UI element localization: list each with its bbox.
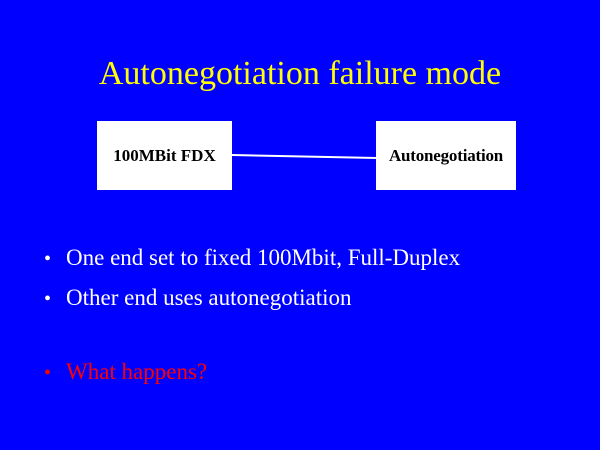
diagram-node-label: 100MBit FDX bbox=[113, 146, 215, 165]
bullet-dot-icon: • bbox=[44, 353, 66, 393]
list-item-label: Other end uses autonegotiation bbox=[66, 278, 352, 318]
list-item: • Other end uses autonegotiation bbox=[44, 278, 584, 318]
diagram-node-autonegotiation: Autonegotiation bbox=[376, 121, 516, 190]
bullet-dot-icon: • bbox=[44, 279, 66, 319]
list-item: • What happens? bbox=[44, 352, 584, 392]
slide-canvas: Autonegotiation failure mode 100MBit FDX… bbox=[0, 0, 600, 450]
bullet-list: • One end set to fixed 100Mbit, Full-Dup… bbox=[44, 238, 584, 392]
list-item-label: What happens? bbox=[66, 352, 207, 392]
bullet-dot-icon: • bbox=[44, 239, 66, 279]
diagram-node-label: Autonegotiation bbox=[389, 146, 503, 165]
list-item-label: One end set to fixed 100Mbit, Full-Duple… bbox=[66, 238, 460, 278]
list-item: • One end set to fixed 100Mbit, Full-Dup… bbox=[44, 238, 584, 278]
diagram-node-fixed-speed: 100MBit FDX bbox=[97, 121, 232, 190]
